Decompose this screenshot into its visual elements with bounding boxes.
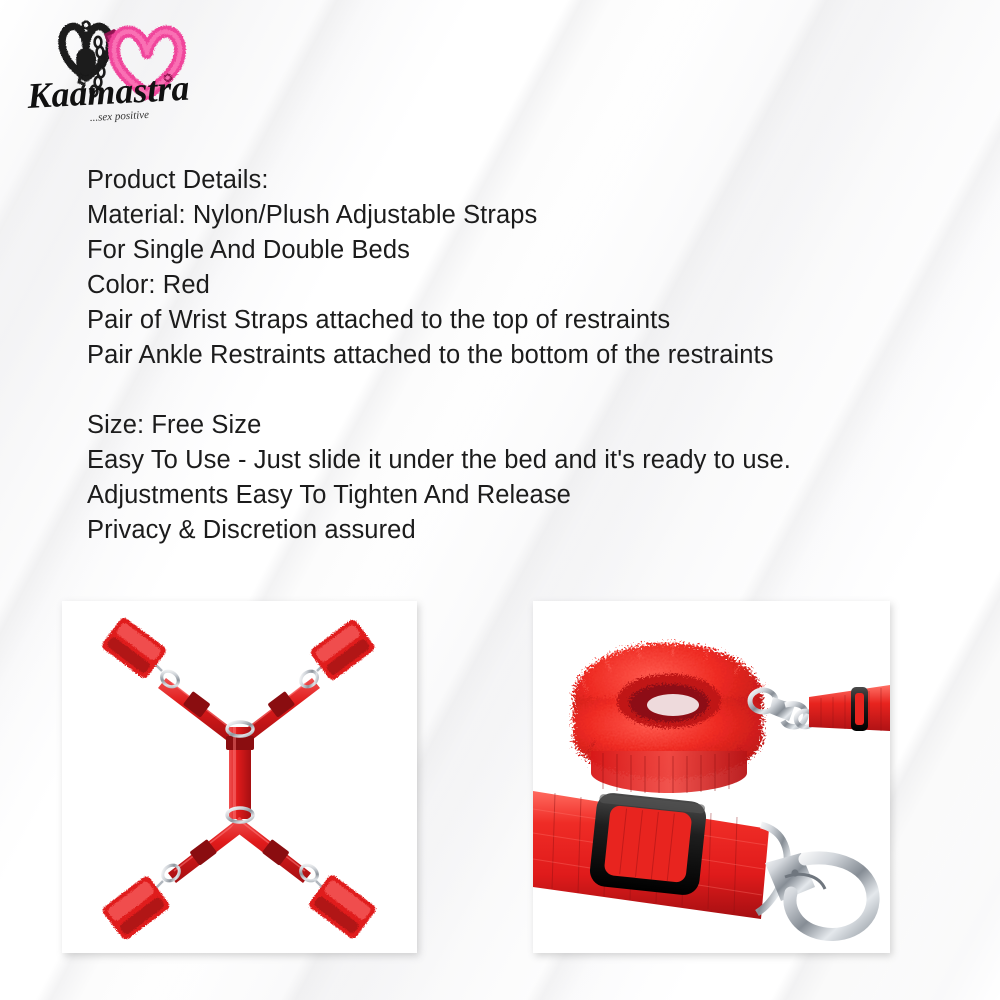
product-photo-panel-right (533, 601, 890, 953)
detail-line-beds: For Single And Double Beds (87, 233, 927, 268)
brand-wordmark: Kaamastra (25, 68, 190, 116)
detail-line-adjustments: Adjustments Easy To Tighten And Release (87, 478, 927, 513)
detail-line-color: Color: Red (87, 268, 927, 303)
product-detail-image: Kaamastra ...sex positive Product Detail… (0, 0, 1000, 1000)
plush-cuff-closeup-illustration (533, 601, 890, 953)
detail-line-easy-to-use: Easy To Use - Just slide it under the be… (87, 443, 927, 478)
copy-block-spacer (87, 373, 927, 408)
detail-line-material: Material: Nylon/Plush Adjustable Straps (87, 198, 927, 233)
x-shaped-restraint-illustration (62, 601, 417, 953)
product-photo-panel-left (62, 601, 417, 953)
plush-wrist-cuff (573, 643, 765, 793)
detail-line-heading: Product Details: (87, 163, 927, 198)
detail-line-privacy: Privacy & Discretion assured (87, 513, 927, 548)
detail-line-size: Size: Free Size (87, 408, 927, 443)
product-details-copy: Product Details: Material: Nylon/Plush A… (87, 163, 927, 548)
brand-logo: Kaamastra ...sex positive (18, 12, 198, 124)
detail-line-wrist: Pair of Wrist Straps attached to the top… (87, 303, 927, 338)
brand-tagline: ...sex positive (90, 109, 150, 124)
restraint-center-strap (226, 727, 254, 819)
slide-buckle (588, 792, 707, 897)
detail-line-ankle: Pair Ankle Restraints attached to the bo… (87, 338, 927, 373)
